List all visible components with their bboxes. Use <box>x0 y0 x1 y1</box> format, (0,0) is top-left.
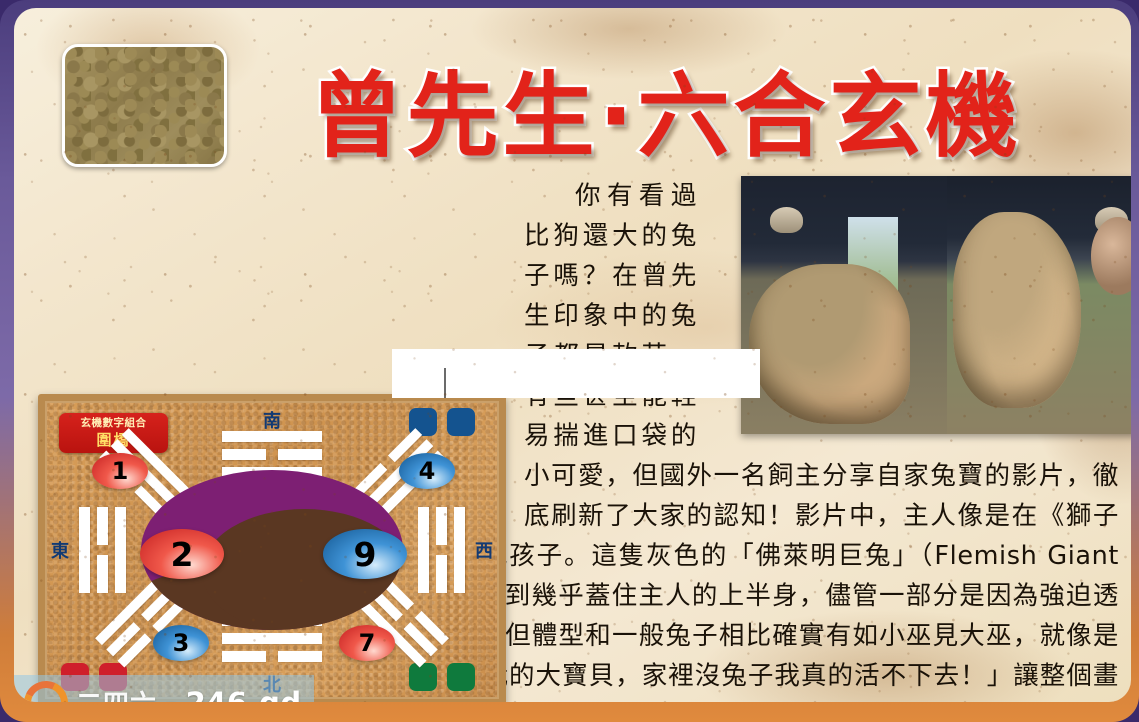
photo-giant-rabbit-right <box>947 176 1131 434</box>
number-ball-2[interactable]: 2 <box>140 529 224 579</box>
combo-label-caption: 玄機數字組合 <box>59 416 168 431</box>
tile-blue-2 <box>447 408 475 436</box>
header-thumbnail-image <box>62 44 227 167</box>
page-title: 曾先生·六合玄機 <box>236 48 1096 168</box>
cap-icon <box>770 207 803 233</box>
white-overlay-box <box>392 349 760 398</box>
watermark-chinese: 二四六 <box>76 684 157 702</box>
number-ball-7[interactable]: 7 <box>339 625 395 661</box>
bagua-cork-board: 玄機數字組合 圍橋 南 北 東 西 <box>38 394 506 702</box>
number-ball-9[interactable]: 9 <box>323 529 407 579</box>
direction-east: 東 <box>51 537 69 563</box>
photo-pair <box>741 176 1131 434</box>
number-ball-3[interactable]: 3 <box>153 625 209 661</box>
watermark-separator: - <box>165 686 178 703</box>
cap-icon <box>1095 207 1128 233</box>
poster-page: 曾先生·六合玄機 你有看過比狗還大的兔子嗎？在曾先生印象中的兔子都是軟萌，有些甚… <box>0 0 1139 722</box>
watermark-logo-icon <box>18 675 74 702</box>
trigram-west-icon <box>418 507 465 593</box>
direction-south: 南 <box>263 407 281 433</box>
parchment-background: 曾先生·六合玄機 你有看過比狗還大的兔子嗎？在曾先生印象中的兔子都是軟萌，有些甚… <box>14 8 1131 702</box>
overlay-divider <box>444 368 446 398</box>
number-ball-1[interactable]: 1 <box>92 453 148 489</box>
direction-west: 西 <box>475 537 493 563</box>
number-ball-4[interactable]: 4 <box>399 453 455 489</box>
photo-giant-rabbit-left <box>741 176 947 434</box>
watermark-domain: 246.gd <box>186 686 302 703</box>
tile-green-2 <box>447 663 475 691</box>
site-watermark: 二四六 - 246.gd <box>14 675 314 702</box>
trigram-east-icon <box>79 507 126 593</box>
